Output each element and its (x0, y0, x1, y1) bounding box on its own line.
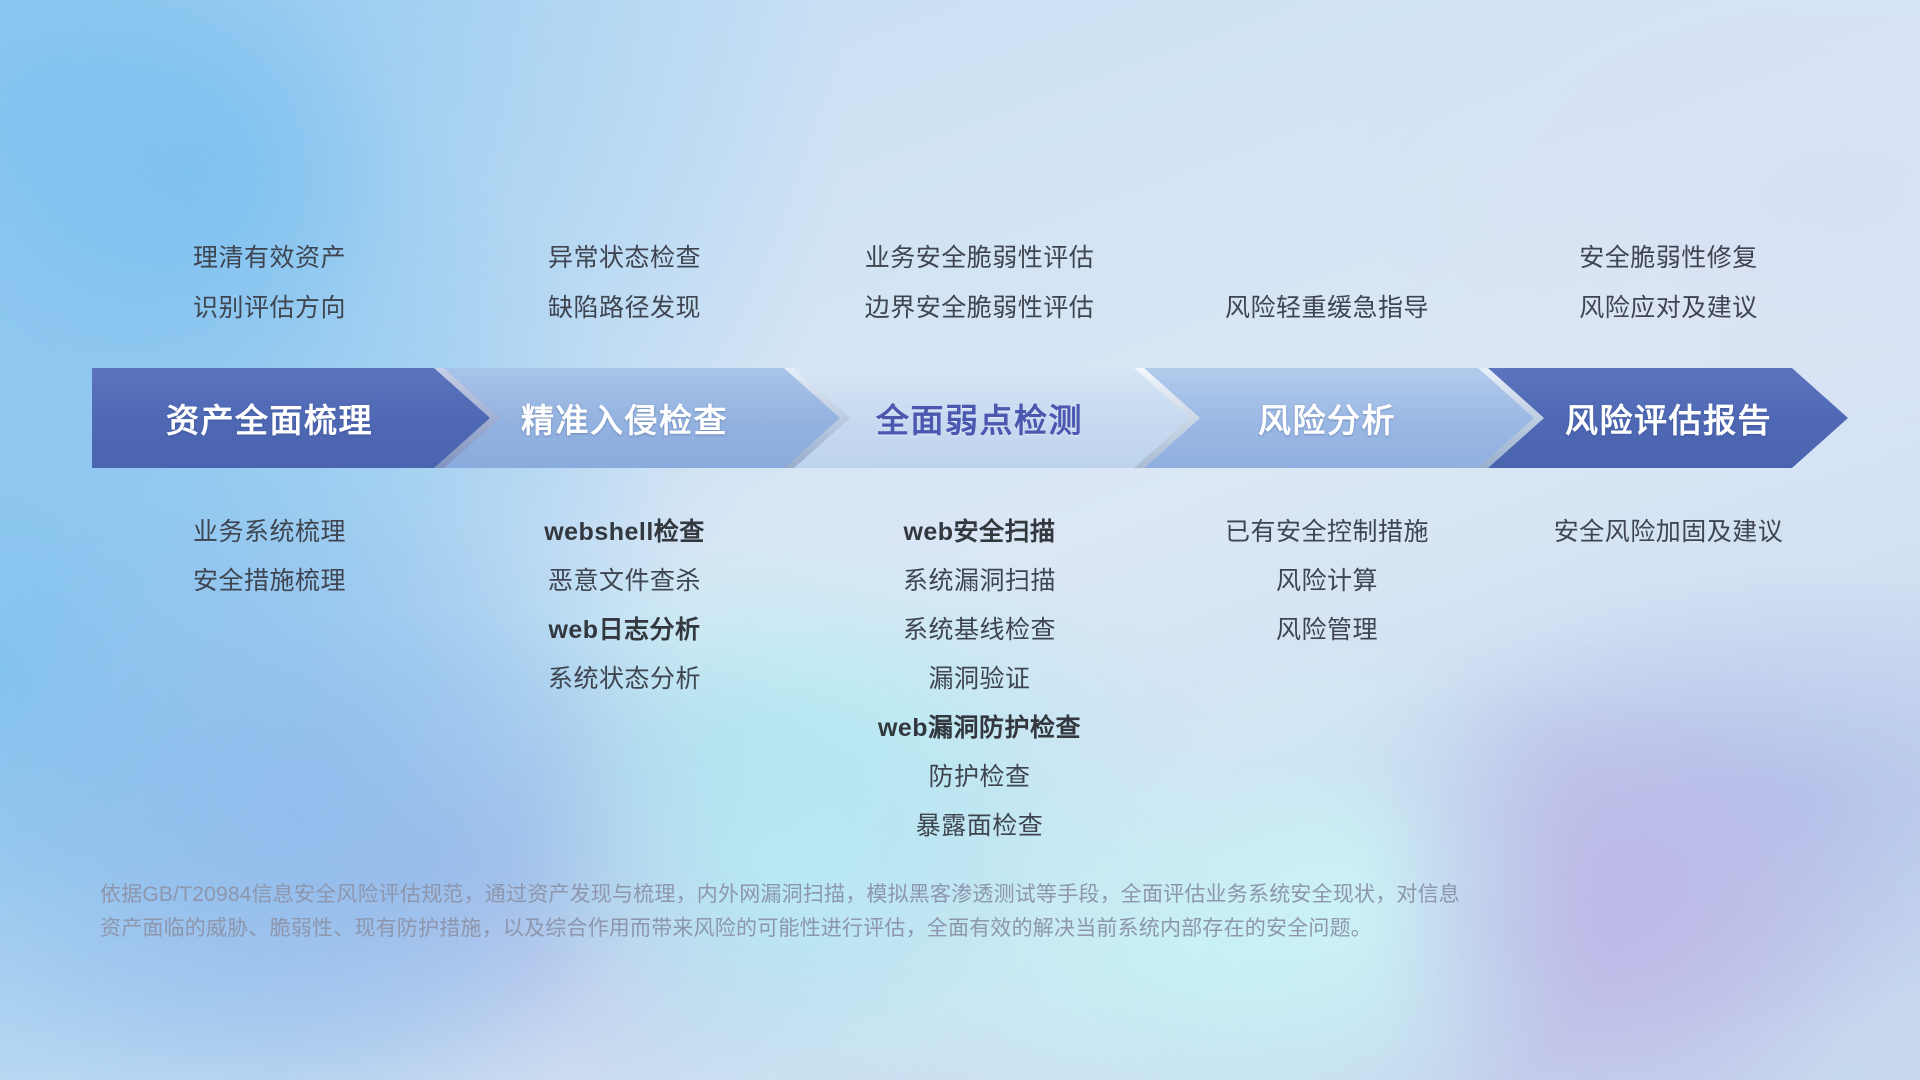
task-item: 恶意文件查杀 (447, 557, 802, 606)
task-item: webshell检查 (447, 508, 802, 557)
outcome-label: 识别评估方向 (92, 283, 447, 333)
task-item: 安全措施梳理 (92, 557, 447, 606)
footer-description: 依据GB/T20984信息安全风险评估规范，通过资产发现与梳理，内外网漏洞扫描，… (100, 878, 1780, 946)
task-item: 业务系统梳理 (92, 508, 447, 557)
outcome-label: 异常状态检查 (447, 233, 802, 283)
outcome-column-2: 异常状态检查 缺陷路径发现 (447, 233, 802, 333)
task-item: web漏洞防护检查 (802, 704, 1157, 753)
outcome-column-1: 理清有效资产 识别评估方向 (92, 233, 447, 333)
outcome-labels-row: 理清有效资产 识别评估方向 异常状态检查 缺陷路径发现 业务安全脆弱性评估 边界… (92, 233, 1840, 333)
outcome-label: 安全脆弱性修复 (1497, 233, 1840, 283)
task-item: 系统状态分析 (447, 655, 802, 704)
task-column-risk-report: 安全风险加固及建议 (1497, 508, 1840, 851)
footer-line-2: 资产面临的威胁、脆弱性、现有防护措施，以及综合作用而带来风险的可能性进行评估，全… (100, 912, 1780, 946)
task-item: 防护检查 (802, 753, 1157, 802)
task-column-weakness-detection: web安全扫描 系统漏洞扫描 系统基线检查 漏洞验证 web漏洞防护检查 防护检… (802, 508, 1157, 851)
outcome-label: 边界安全脆弱性评估 (802, 283, 1157, 333)
task-lists-row: 业务系统梳理 安全措施梳理 webshell检查 恶意文件查杀 web日志分析 … (92, 508, 1840, 851)
outcome-column-3: 业务安全脆弱性评估 边界安全脆弱性评估 (802, 233, 1157, 333)
task-item: web安全扫描 (802, 508, 1157, 557)
outcome-label: 业务安全脆弱性评估 (802, 233, 1157, 283)
outcome-label: 缺陷路径发现 (447, 283, 802, 333)
task-item: 漏洞验证 (802, 655, 1157, 704)
task-column-risk-analysis: 已有安全控制措施 风险计算 风险管理 (1157, 508, 1497, 851)
outcome-label-spacer (1157, 233, 1497, 283)
task-column-intrusion-check: webshell检查 恶意文件查杀 web日志分析 系统状态分析 (447, 508, 802, 851)
task-item: 已有安全控制措施 (1157, 508, 1497, 557)
outcome-column-4: 风险轻重缓急指导 (1157, 233, 1497, 333)
outcome-label: 风险轻重缓急指导 (1157, 283, 1497, 333)
task-item: 安全风险加固及建议 (1497, 508, 1840, 557)
process-arrow-band (92, 368, 1848, 468)
outcome-column-5: 安全脆弱性修复 风险应对及建议 (1497, 233, 1840, 333)
task-item: 风险管理 (1157, 606, 1497, 655)
task-item: 系统漏洞扫描 (802, 557, 1157, 606)
infographic-stage: 理清有效资产 识别评估方向 异常状态检查 缺陷路径发现 业务安全脆弱性评估 边界… (0, 0, 1920, 1080)
outcome-label: 风险应对及建议 (1497, 283, 1840, 333)
footer-line-1: 依据GB/T20984信息安全风险评估规范，通过资产发现与梳理，内外网漏洞扫描，… (100, 878, 1780, 912)
outcome-label: 理清有效资产 (92, 233, 447, 283)
task-item: 系统基线检查 (802, 606, 1157, 655)
task-column-asset-inventory: 业务系统梳理 安全措施梳理 (92, 508, 447, 851)
task-item: 暴露面检查 (802, 802, 1157, 851)
task-item: 风险计算 (1157, 557, 1497, 606)
task-item: web日志分析 (447, 606, 802, 655)
